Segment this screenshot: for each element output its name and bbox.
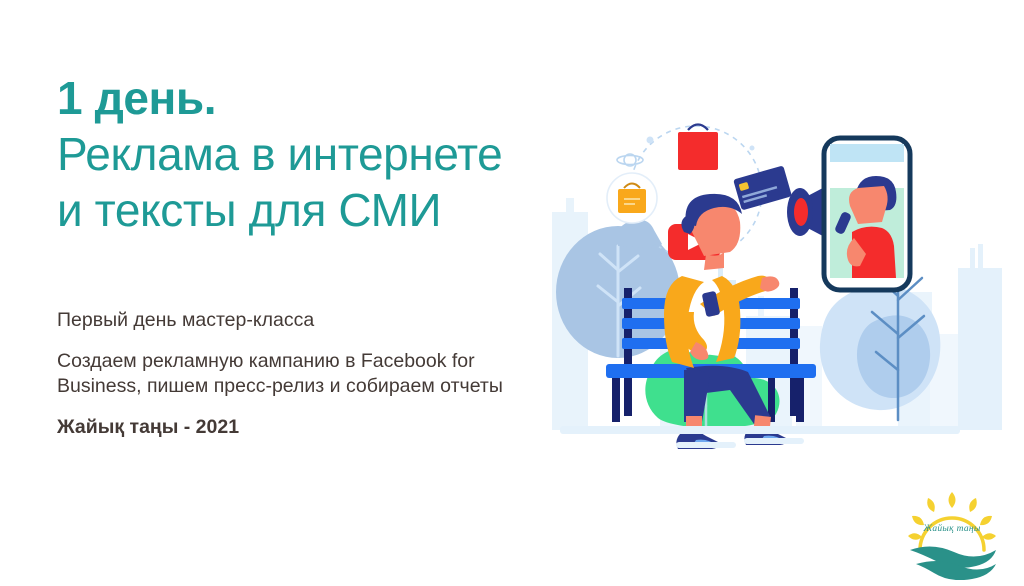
body-text: Первый день мастер-класса Создаем реклам… bbox=[57, 308, 507, 440]
ground-shadow-2 bbox=[744, 438, 804, 444]
title-line-1: 1 день. bbox=[57, 70, 617, 126]
orbit-dot-1 bbox=[647, 137, 654, 144]
smartphone-with-person bbox=[824, 138, 910, 290]
orbit-dot-2 bbox=[750, 146, 755, 151]
internet-advertising-illustration bbox=[500, 120, 1024, 460]
description-paragraph: Создаем рекламную кампанию в Facebook fo… bbox=[57, 349, 507, 399]
logo-text: Жайық таңы bbox=[898, 524, 1006, 534]
ground-line bbox=[560, 426, 960, 434]
red-shopping-bag-icon bbox=[678, 125, 718, 171]
ground-shadow-1 bbox=[676, 442, 736, 448]
credit-card-icon bbox=[733, 165, 792, 210]
logo: Жайық таңы bbox=[898, 488, 1006, 580]
organization-year-paragraph: Жайық таңы - 2021 bbox=[57, 415, 507, 440]
blue-blob-right-2 bbox=[857, 315, 930, 398]
subtitle-paragraph: Первый день мастер-класса bbox=[57, 308, 507, 333]
sun-arc-icon bbox=[920, 518, 984, 550]
orange-shopping-bag-icon bbox=[607, 173, 657, 223]
slide-canvas: 1 день. Реклама в интернете и тексты для… bbox=[0, 0, 1024, 586]
